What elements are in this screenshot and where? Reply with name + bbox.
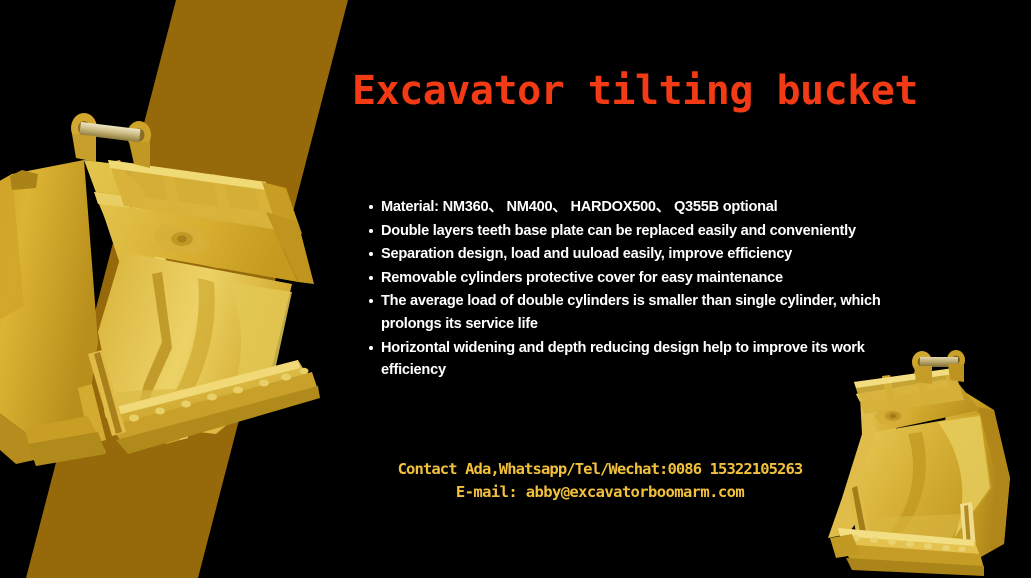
list-item: Double layers teeth base plate can be re… [368,220,916,243]
contact-email-line: E-mail: abby@excavatorboomarm.com [260,481,940,504]
list-item: The average load of double cylinders is … [368,290,916,335]
list-item: Removable cylinders protective cover for… [368,267,916,290]
list-item: Horizontal widening and depth reducing d… [368,337,916,382]
poster-canvas: Excavator tilting bucket Material: NM360… [0,0,1031,578]
contact-block: Contact Ada,Whatsapp/Tel/Wechat:0086 153… [260,458,940,504]
excavator-tilting-bucket-photo-large [0,92,342,472]
feature-list: Material: NM360、 NM400、 HARDOX500、 Q355B… [368,196,916,383]
list-item: Material: NM360、 NM400、 HARDOX500、 Q355B… [368,196,916,219]
contact-phone-line: Contact Ada,Whatsapp/Tel/Wechat:0086 153… [260,458,940,481]
list-item: Separation design, load and uuload easil… [368,243,916,266]
page-title: Excavator tilting bucket [352,68,872,114]
